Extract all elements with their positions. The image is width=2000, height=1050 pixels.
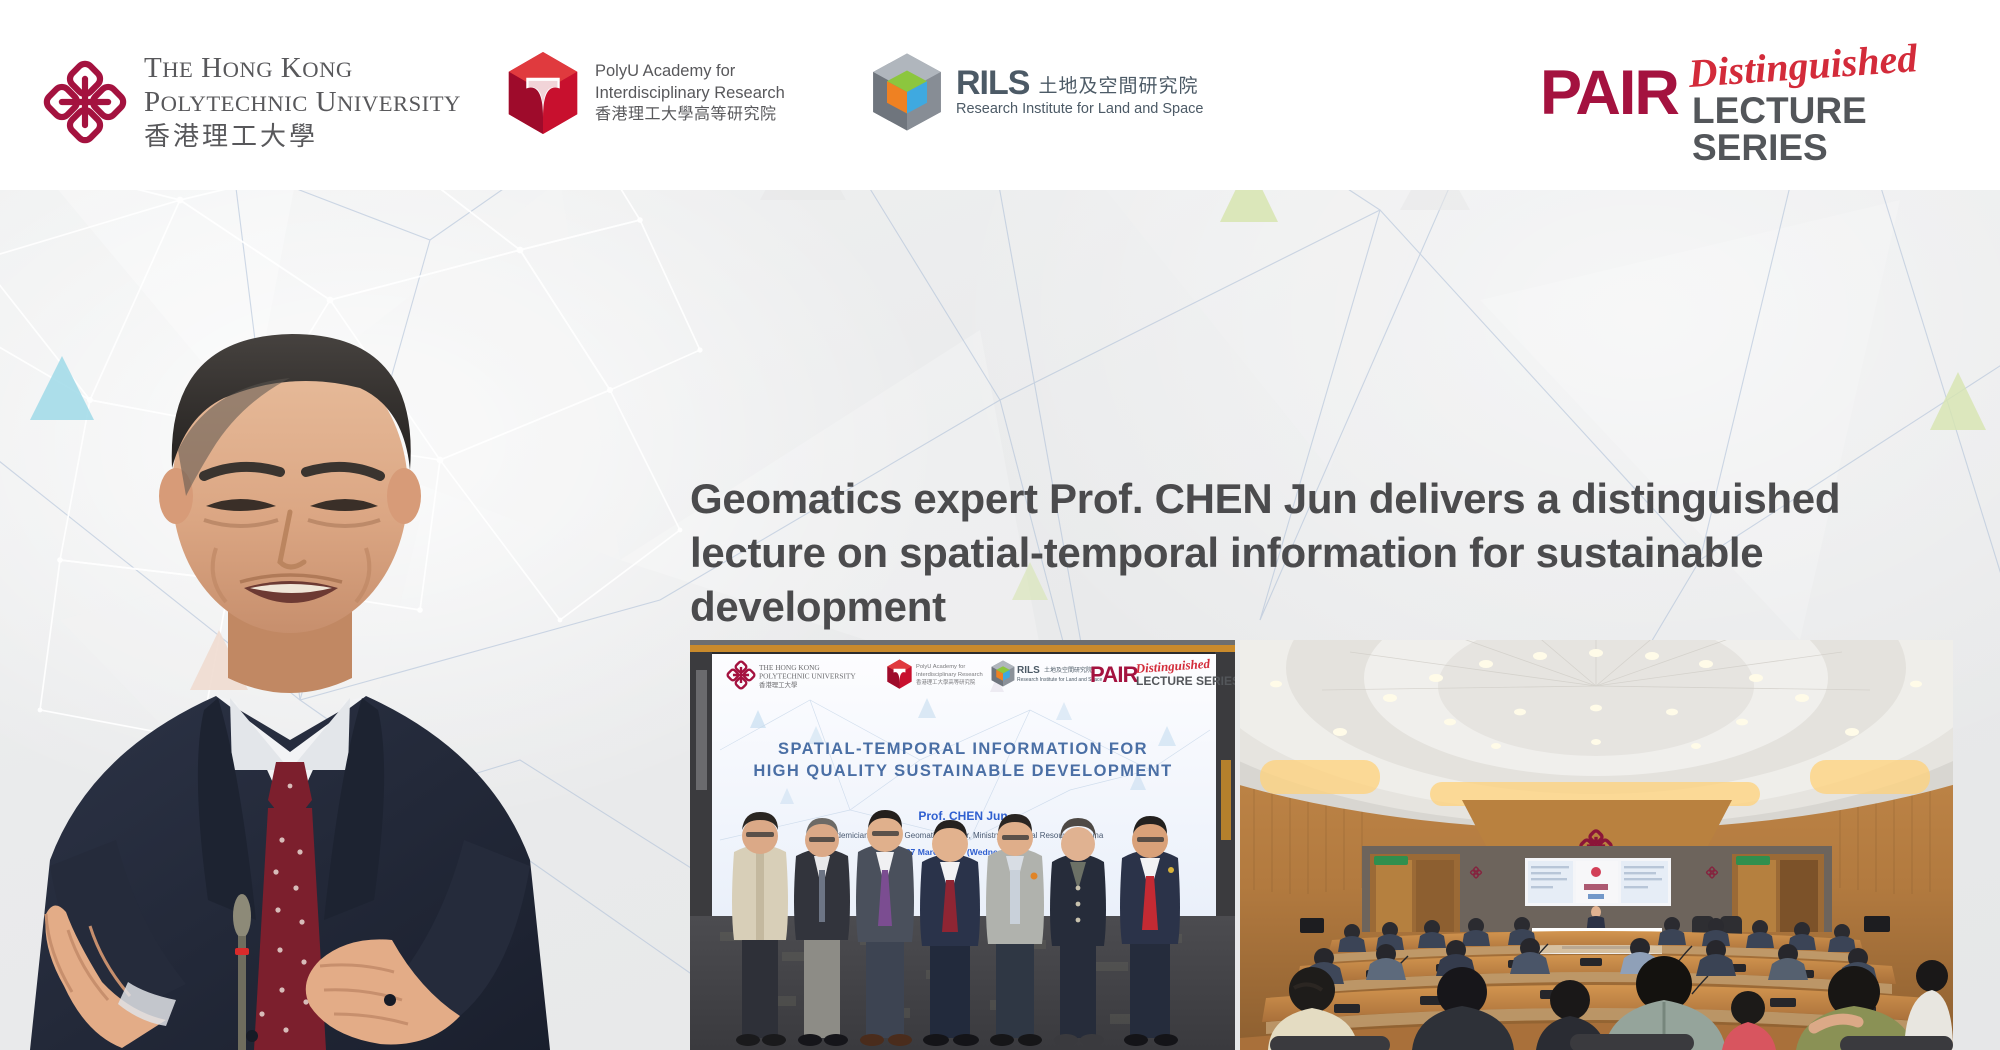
speaker-portrait <box>0 300 680 1050</box>
rils-chinese: 土地及空間研究院 <box>1038 76 1198 98</box>
polyu-logo[interactable]: THE HONG KONG POLYTECHNIC UNIVERSITY 香港理… <box>42 52 461 151</box>
rils-full-name: Research Institute for Land and Space <box>956 100 1203 118</box>
header-logo-bar: THE HONG KONG POLYTECHNIC UNIVERSITY 香港理… <box>0 0 2000 190</box>
polyu-knot-icon <box>42 59 128 145</box>
svg-text:香港理工大學: 香港理工大學 <box>759 680 798 689</box>
red-cube-icon <box>505 50 581 136</box>
svg-text:LECTURE SERIES: LECTURE SERIES <box>1136 674 1235 688</box>
banner-speaker: Prof. CHEN Jun <box>918 809 1007 823</box>
polyu-name-line1: THE HONG KONG <box>144 52 461 86</box>
pair-academy-line1: PolyU Academy for <box>595 60 785 82</box>
group-photo[interactable]: THE HONG KONG POLYTECHNIC UNIVERSITY 香港理… <box>690 640 1235 1050</box>
svg-text:Interdisciplinary Research: Interdisciplinary Research <box>916 672 983 678</box>
dls-pair-text: PAIR <box>1540 62 1678 125</box>
page-title: Geomatics expert Prof. CHEN Jun delivers… <box>690 472 1970 634</box>
dls-lecture-series-text: LECTURE SERIES <box>1692 92 1867 166</box>
polyu-name-chinese: 香港理工大學 <box>144 121 461 151</box>
pair-academy-logo[interactable]: PolyU Academy for Interdisciplinary Rese… <box>505 50 785 136</box>
poster-page: THE HONG KONG POLYTECHNIC UNIVERSITY 香港理… <box>0 0 2000 1050</box>
polyu-name-line2: POLYTECHNIC UNIVERSITY <box>144 86 461 120</box>
pair-academy-chinese: 香港理工大學高等研究院 <box>595 104 785 126</box>
svg-text:PolyU Academy for: PolyU Academy for <box>916 664 965 670</box>
svg-text:POLYTECHNIC UNIVERSITY: POLYTECHNIC UNIVERSITY <box>759 672 856 681</box>
svg-text:香港理工大學高等研究院: 香港理工大學高等研究院 <box>916 678 976 686</box>
lecture-hall-photo[interactable] <box>1240 640 1953 1050</box>
svg-text:PAIR: PAIR <box>1090 662 1139 687</box>
rils-abbr: RILS <box>956 66 1029 100</box>
gray-cube-icon <box>868 52 946 132</box>
rils-logo[interactable]: RILS 土地及空間研究院 Research Institute for Lan… <box>868 52 1203 132</box>
banner-title-line2: HIGH QUALITY SUSTAINABLE DEVELOPMENT <box>753 762 1172 780</box>
pair-academy-line2: Interdisciplinary Research <box>595 82 785 104</box>
banner-title-line1: SPATIAL-TEMPORAL INFORMATION FOR <box>778 740 1148 758</box>
svg-text:RILS: RILS <box>1017 665 1040 676</box>
svg-text:土地及空間研究院: 土地及空間研究院 <box>1044 666 1092 674</box>
dls-distinguished-text: Distinguished <box>1687 38 1918 94</box>
